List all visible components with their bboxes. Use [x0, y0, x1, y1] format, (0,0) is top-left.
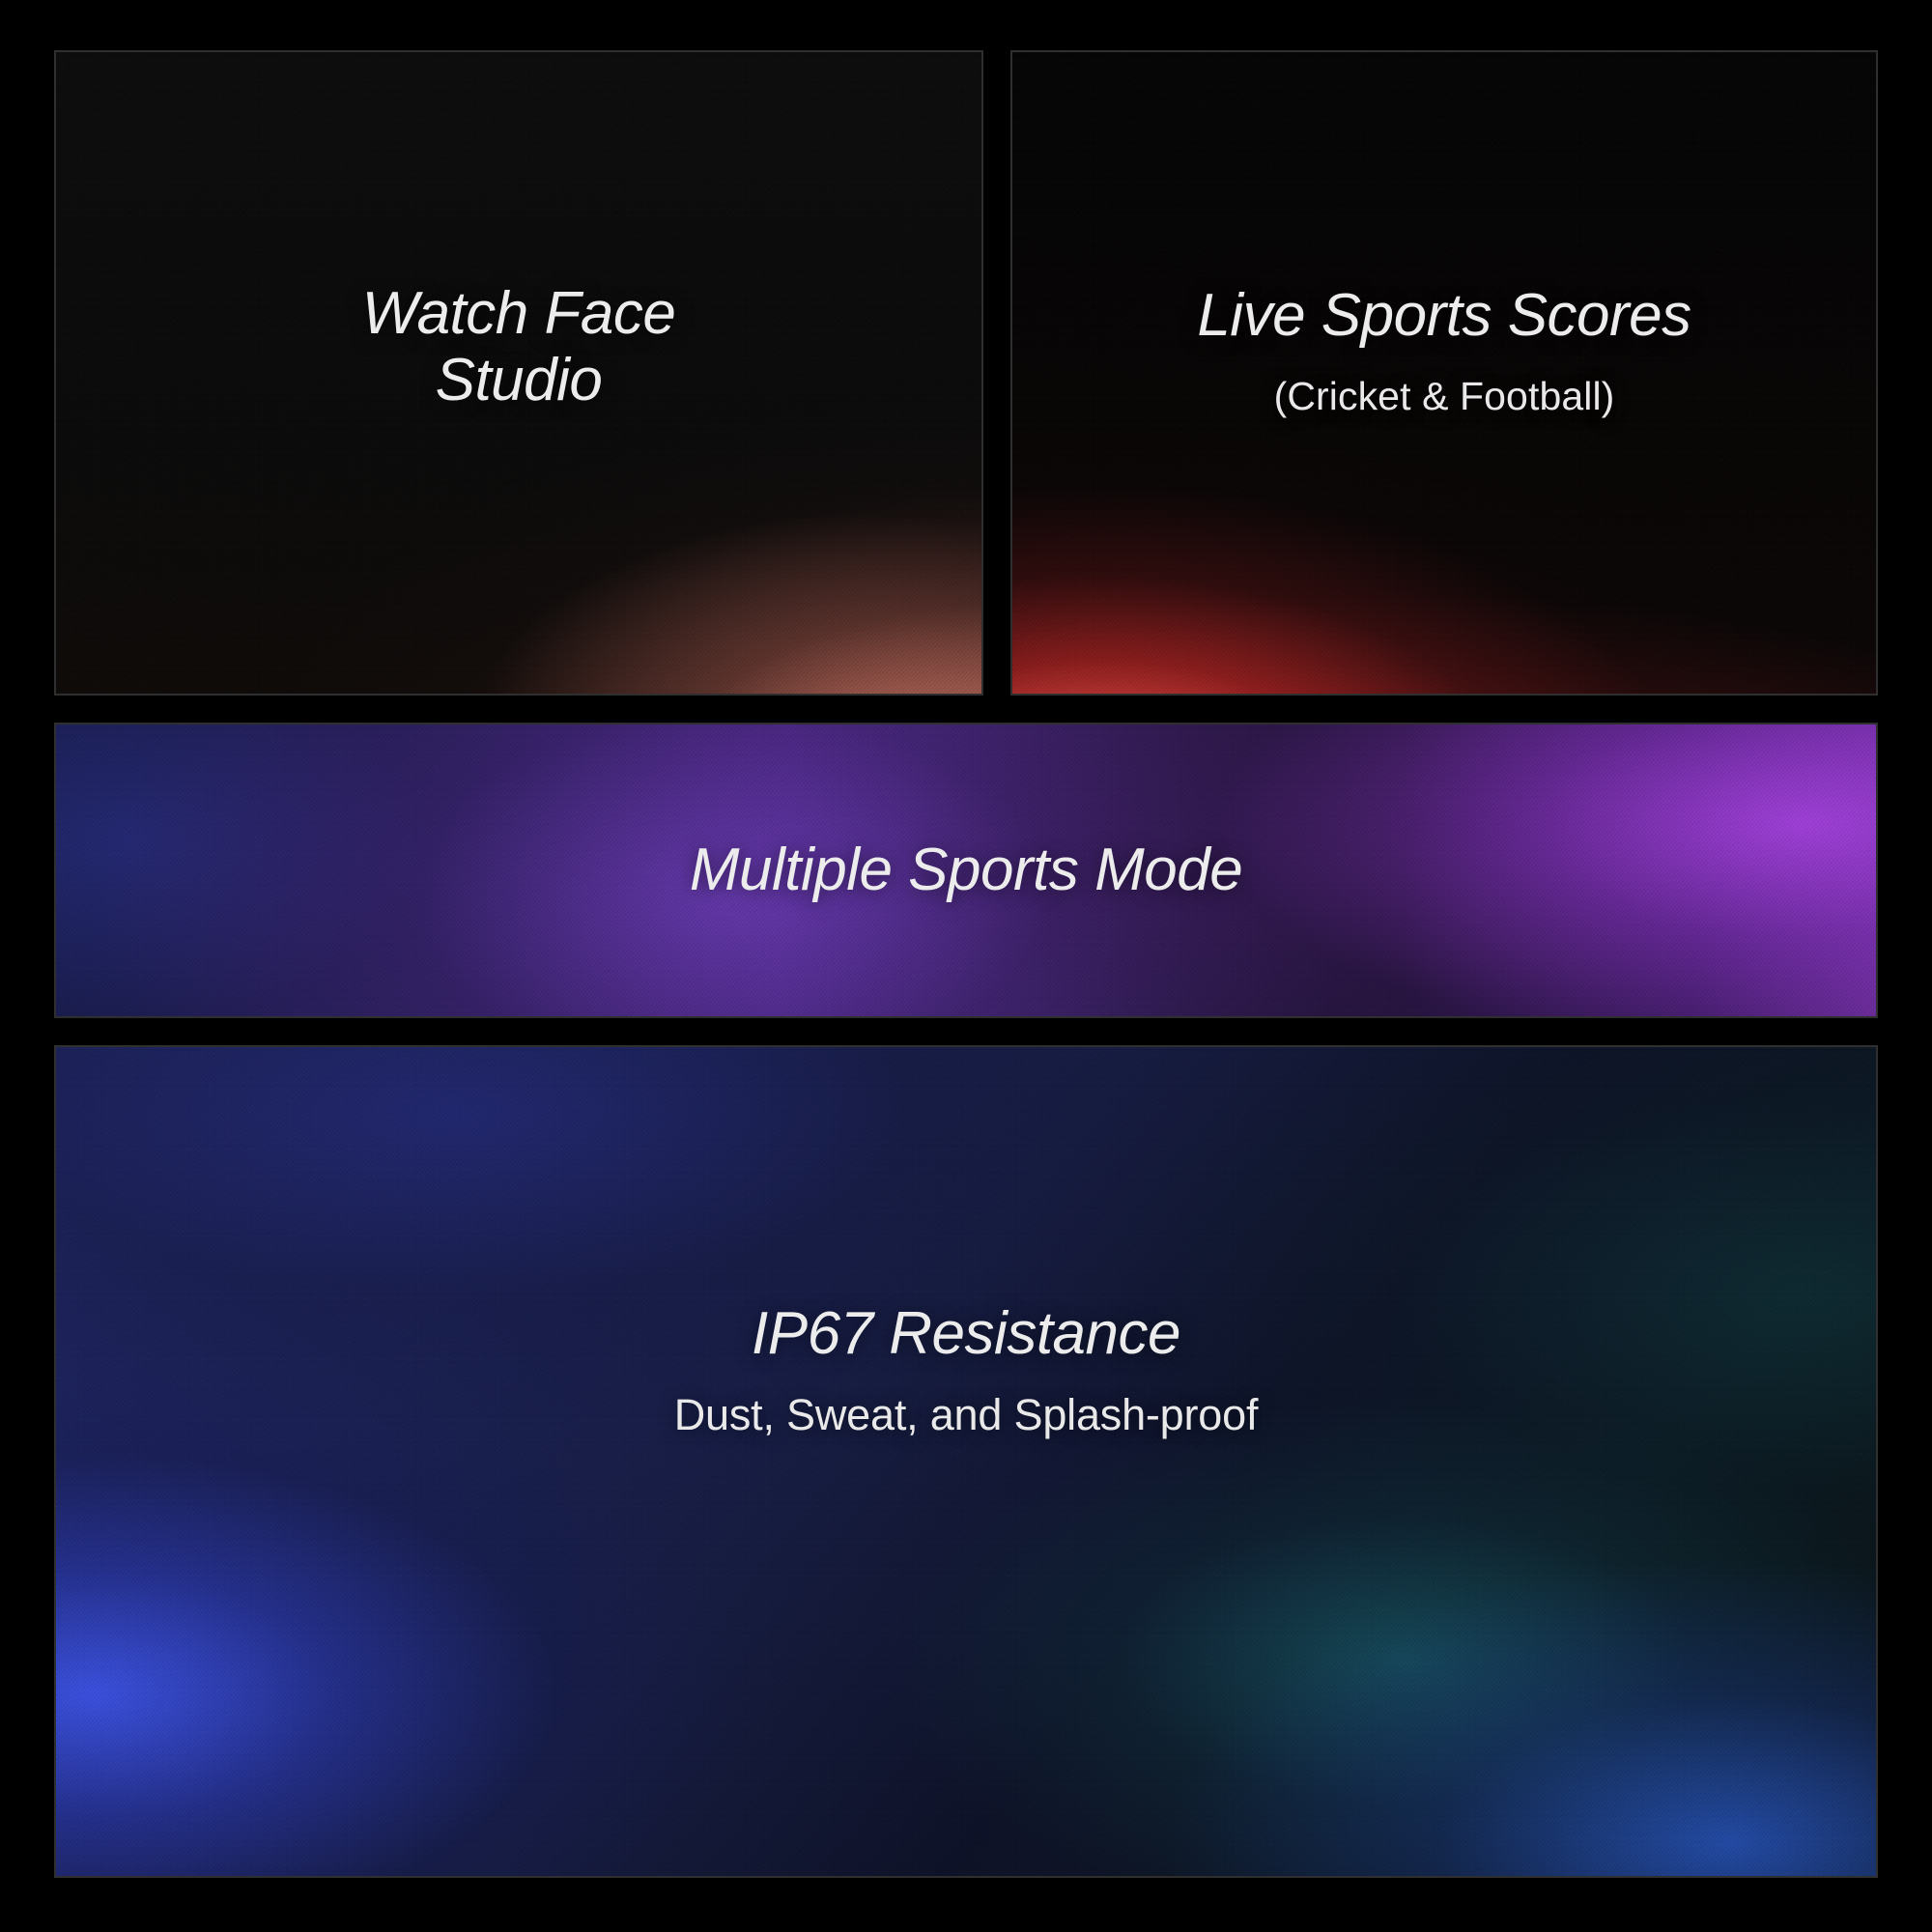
card-ip67-subtitle: Dust, Sweat, and Splash-proof — [674, 1390, 1259, 1440]
card-ip67-content: IP67 Resistance Dust, Sweat, and Splash-… — [56, 1047, 1876, 1876]
card-watch-face-title: Watch Face Studio — [362, 280, 676, 414]
card-sports-mode-content: Multiple Sports Mode — [56, 724, 1876, 1016]
card-live-scores-content: Live Sports Scores (Cricket & Football) — [1012, 52, 1876, 694]
card-sports-mode-title: Multiple Sports Mode — [690, 837, 1242, 903]
card-watch-face-content: Watch Face Studio — [56, 52, 981, 694]
card-multiple-sports-mode[interactable]: Multiple Sports Mode — [54, 723, 1878, 1018]
card-watch-face-title-line-1: Watch Face — [362, 280, 676, 347]
card-ip67-resistance[interactable]: IP67 Resistance Dust, Sweat, and Splash-… — [54, 1045, 1878, 1878]
card-watch-face-title-line-2: Studio — [436, 347, 603, 413]
card-ip67-title: IP67 Resistance — [752, 1300, 1180, 1367]
card-live-sports-scores[interactable]: Live Sports Scores (Cricket & Football) — [1010, 50, 1878, 696]
card-live-scores-title: Live Sports Scores — [1197, 282, 1690, 349]
feature-card-board: Watch Face Studio Live Sports Scores (Cr… — [0, 0, 1932, 1932]
card-watch-face-studio[interactable]: Watch Face Studio — [54, 50, 983, 696]
card-live-scores-subtitle: (Cricket & Football) — [1274, 374, 1615, 419]
cards-row-top: Watch Face Studio Live Sports Scores (Cr… — [54, 50, 1878, 696]
